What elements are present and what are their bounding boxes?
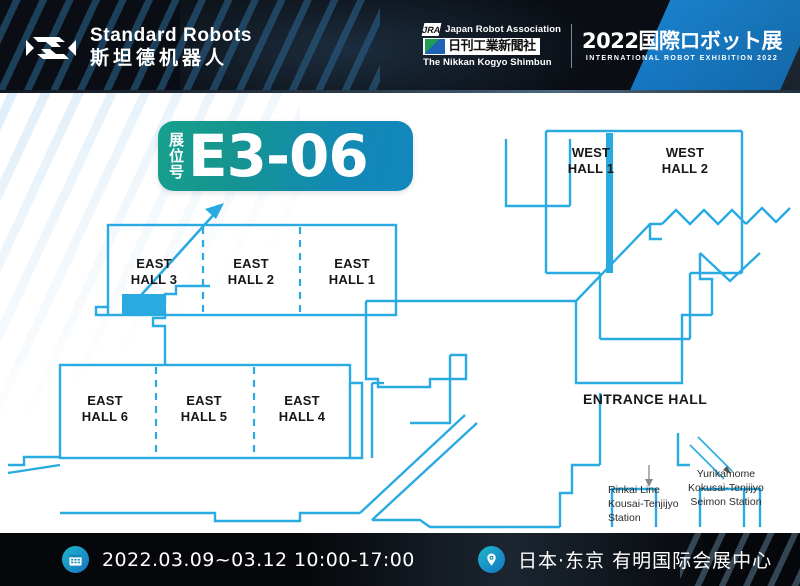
brand-name-en: Standard Robots — [90, 26, 252, 46]
brand-name-cn: 斯坦德机器人 — [90, 48, 252, 69]
logo-divider — [571, 24, 572, 68]
nikkan-name-cn: 日刊工業新聞社 — [448, 40, 536, 54]
exhibition-title-en: INTERNATIONAL ROBOT EXHIBITION 2022 — [586, 55, 778, 62]
japan-robot-association-logo: JRA Japan Robot Association 日刊工業新聞社 The … — [423, 23, 561, 68]
brand-text: Standard Robots 斯坦德机器人 — [90, 26, 252, 69]
exhibition-title-jp: 2022国際ロボット展 — [582, 30, 782, 52]
event-logo-lockup: JRA Japan Robot Association 日刊工業新聞社 The … — [423, 23, 782, 68]
booth-number-badge: 展位号 E3-06 — [158, 121, 413, 191]
booth-number-value: E3-06 — [188, 127, 368, 185]
nikkan-mark-icon — [425, 39, 445, 54]
calendar-icon — [62, 546, 89, 573]
entrance-hall-label: ENTRANCE HALL — [583, 391, 707, 407]
hall-label-east-1: EAST HALL 1 — [313, 256, 391, 288]
footer-date-text: 2022.03.09~03.12 10:00-17:00 — [102, 549, 415, 571]
jra-badge-icon: JRA — [422, 23, 442, 36]
brand-lockup: Standard Robots 斯坦德机器人 — [24, 26, 252, 69]
footer-date-item: 2022.03.09~03.12 10:00-17:00 — [62, 546, 415, 573]
header-bar: Standard Robots 斯坦德机器人 JRA Japan Robot A… — [0, 0, 800, 93]
exhibition-booth-poster: Standard Robots 斯坦德机器人 JRA Japan Robot A… — [0, 0, 800, 586]
exhibition-title-block: 2022国際ロボット展 INTERNATIONAL ROBOT EXHIBITI… — [582, 30, 782, 62]
nikkan-kogyo-logo: 日刊工業新聞社 — [423, 38, 540, 55]
booth-marker-e3-06 — [122, 294, 166, 314]
hall-label-west-1: WEST HALL 1 — [551, 145, 631, 177]
jra-top-row: JRA Japan Robot Association — [423, 23, 561, 36]
booth-pointer-arrow — [134, 203, 224, 303]
hall-label-west-2: WEST HALL 2 — [645, 145, 725, 177]
hall-label-east-2: EAST HALL 2 — [212, 256, 290, 288]
hall-label-east-3: EAST HALL 3 — [115, 256, 193, 288]
hall-label-east-6: EAST HALL 6 — [65, 393, 145, 425]
footer-location-text: 日本·东京 有明国际会展中心 — [518, 546, 772, 573]
location-pin-icon — [478, 546, 505, 573]
booth-number-label-cn: 展位号 — [168, 130, 184, 182]
hall-label-east-4: EAST HALL 4 — [262, 393, 342, 425]
station-label-yurikamome: Yurikamome Kokusai-Tenjijyo Seimon Stati… — [688, 467, 764, 509]
jra-name-en: Japan Robot Association — [445, 24, 561, 35]
nikkan-name-en: The Nikkan Kogyo Shimbun — [423, 57, 552, 68]
hall-label-east-5: EAST HALL 5 — [164, 393, 244, 425]
footer-bar: 2022.03.09~03.12 10:00-17:00 日本·东京 有明国际会… — [0, 533, 800, 586]
station-label-rinkai: Rinkai Line Kousai-Tenjijyo Station — [608, 483, 679, 525]
footer-location-item: 日本·东京 有明国际会展中心 — [478, 546, 772, 573]
standard-robots-arrow-logo-icon — [24, 28, 78, 68]
